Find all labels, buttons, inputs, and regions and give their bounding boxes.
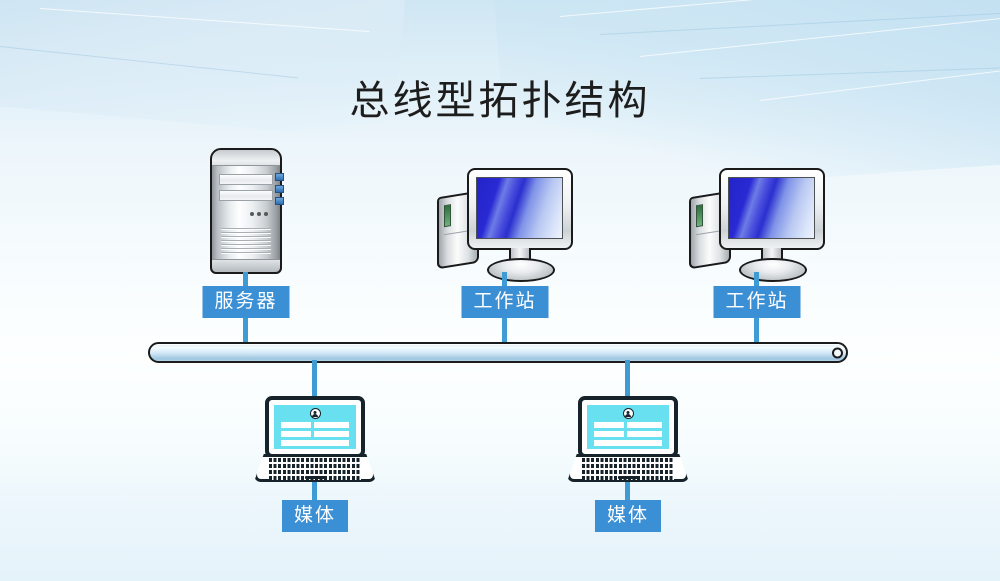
node-media-1[interactable]: [254, 396, 376, 482]
bus-backbone[interactable]: [148, 342, 848, 363]
laptop-form-row: [281, 431, 350, 437]
server-vents: [221, 228, 271, 253]
server-drive-bay: [219, 190, 273, 201]
laptop-form-row: [594, 431, 663, 437]
laptop-form-row: [594, 422, 663, 428]
server-led-icon: [275, 197, 284, 205]
label-workstation-1[interactable]: 工作站: [461, 286, 548, 318]
laptop-trackpad: [305, 476, 325, 479]
user-avatar-icon: [623, 408, 634, 419]
node-media-2[interactable]: [567, 396, 689, 482]
tower-slot: [696, 204, 703, 227]
laptop-screen: [587, 405, 669, 449]
label-media-2[interactable]: 媒体: [595, 500, 661, 532]
server-base: [212, 259, 280, 272]
server-led-icon: [275, 173, 284, 181]
server-body: [210, 148, 282, 274]
laptop-form-row: [281, 440, 350, 446]
laptop-icon: [254, 396, 376, 482]
label-workstation-2[interactable]: 工作站: [713, 286, 800, 318]
tower-slot: [444, 204, 451, 227]
server-indicator-dots: [250, 212, 268, 216]
diagram-title: 总线型拓扑结构: [0, 68, 1000, 126]
server-top-panel: [212, 150, 280, 166]
node-server[interactable]: [210, 148, 282, 274]
laptop-screen: [274, 405, 356, 449]
monitor-base: [487, 258, 555, 282]
desktop-monitor-icon: [689, 168, 825, 280]
laptop-form-rows: [281, 422, 350, 446]
bus-terminator-icon: [832, 347, 843, 358]
node-workstation-2[interactable]: [689, 168, 825, 280]
laptop-form-rows: [594, 422, 663, 446]
label-server[interactable]: 服务器: [202, 286, 289, 318]
desktop-monitor-icon: [437, 168, 573, 280]
laptop-form-row: [281, 422, 350, 428]
label-media-1[interactable]: 媒体: [282, 500, 348, 532]
monitor-screen: [476, 177, 563, 239]
diagram-canvas: 总线型拓扑结构 服务器: [0, 0, 1000, 581]
laptop-icon: [567, 396, 689, 482]
monitor-bezel: [467, 168, 573, 250]
laptop-lid: [578, 396, 678, 458]
monitor-screen: [728, 177, 815, 239]
background-band-bottom: [0, 451, 1000, 581]
server-tower-icon: [210, 148, 282, 274]
node-workstation-1[interactable]: [437, 168, 573, 280]
monitor-base: [739, 258, 807, 282]
laptop-trackpad: [618, 476, 638, 479]
server-led-icon: [275, 185, 284, 193]
server-drive-bay: [219, 174, 273, 185]
laptop-form-row: [594, 440, 663, 446]
laptop-lid: [265, 396, 365, 458]
user-avatar-icon: [310, 408, 321, 419]
monitor-bezel: [719, 168, 825, 250]
